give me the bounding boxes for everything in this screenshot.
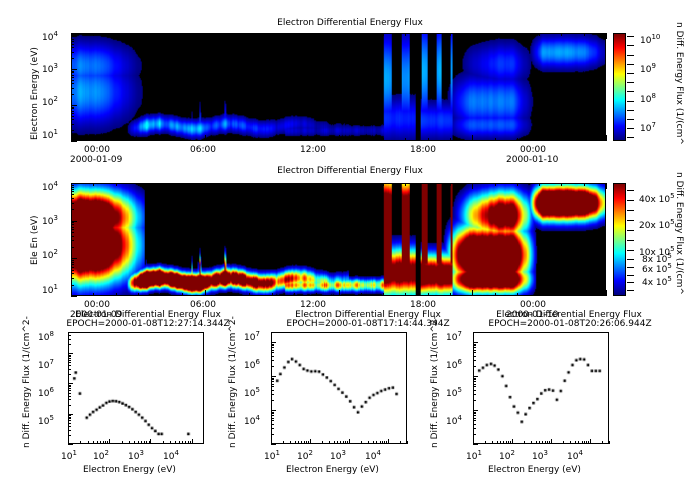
- mini-y-minor-tick: [68, 358, 71, 359]
- colorbar-tick: [627, 290, 634, 291]
- mini-y-minor-tick: [473, 350, 476, 351]
- mini-y-minor-tick: [473, 366, 476, 367]
- y-minor-tick: [71, 236, 74, 237]
- mini-y-minor-tick: [473, 379, 476, 380]
- panel-top-ytick-1: 101: [42, 128, 58, 141]
- panel-top-colorbar-label: n Diff. Energy Flux (1/(cm^: [674, 22, 684, 145]
- mini-x-minor-tick: [298, 441, 299, 444]
- mini-y-minor-tick: [271, 420, 274, 421]
- mini-y-minor-tick: [271, 352, 274, 353]
- panel-top-xtick-3: 18:00: [410, 145, 436, 155]
- y-minor-tick: [71, 47, 74, 48]
- mini-y-minor-tick: [271, 344, 274, 345]
- mini-y-minor-tick: [473, 386, 476, 387]
- x-minor-tick-top: [182, 33, 183, 36]
- x-minor-tick-top: [160, 183, 161, 186]
- mini-x-major-tick: [512, 439, 513, 444]
- panel-middle-cbtick-4: 6x 105: [642, 262, 672, 275]
- spectrum-1-xlabel: Electron Energy (eV): [83, 465, 176, 475]
- mini-x-minor-tick: [322, 441, 323, 444]
- panel-top-xdate-left: 2000-01-09: [70, 155, 122, 165]
- y-minor-tick: [71, 260, 74, 261]
- mini-y-minor-tick: [271, 394, 274, 395]
- x-minor-tick-top: [249, 33, 250, 36]
- panel-middle-ytick-2: 102: [42, 248, 58, 261]
- x-minor-tick-top: [272, 183, 273, 186]
- mini-x-minor-tick: [100, 441, 101, 444]
- mini-y-minor-tick: [68, 396, 71, 397]
- y-minor-tick: [71, 203, 74, 204]
- mini-y-major-tick: [271, 444, 276, 445]
- x-minor-tick: [182, 293, 183, 296]
- mini-x-minor-tick: [545, 441, 546, 444]
- mini-x-minor-tick: [182, 441, 183, 444]
- y-minor-tick: [71, 77, 74, 78]
- mini-x-minor-tick: [340, 441, 341, 444]
- mini-y-minor-tick: [473, 420, 476, 421]
- x-minor-tick-top: [405, 183, 406, 186]
- spectrum-2-xtick-0: 101: [264, 449, 280, 462]
- y-minor-tick: [71, 107, 74, 108]
- y-minor-tick: [71, 111, 74, 112]
- mini-x-minor-tick: [188, 441, 189, 444]
- x-minor-tick: [93, 138, 94, 141]
- panel-middle-xtick-3: 18:00: [410, 300, 436, 310]
- mini-y-minor-tick: [271, 424, 274, 425]
- spectrum-1-ylabel: n Diff. Energy Flux (1/(cm^2-: [22, 316, 32, 448]
- panel-middle-cbtick-0: 40x 105: [639, 192, 675, 205]
- mini-x-minor-tick: [506, 441, 507, 444]
- x-minor-tick: [138, 138, 139, 141]
- spectrum-3-xlabel: Electron Energy (eV): [488, 465, 581, 475]
- mini-y-minor-tick: [473, 434, 476, 435]
- y-minor-tick: [71, 247, 74, 248]
- x-minor-tick: [272, 138, 273, 141]
- panel-top-ytick-2: 102: [42, 95, 58, 108]
- y-minor-tick: [71, 80, 74, 81]
- mini-x-minor-tick: [138, 441, 139, 444]
- spectrum-1-ytick-1: 107: [38, 358, 54, 371]
- panel-top-spectrogram-canvas: [72, 34, 605, 140]
- x-minor-tick-top: [517, 183, 518, 186]
- x-minor-tick: [450, 293, 451, 296]
- colorbar-tick: [627, 64, 634, 65]
- panel-middle-xtick-4: 00:00: [520, 300, 546, 310]
- spectrum-3-scatter: [474, 333, 608, 443]
- mini-y-minor-tick: [68, 355, 71, 356]
- x-minor-tick-top: [272, 33, 273, 36]
- mini-y-minor-tick: [473, 381, 476, 382]
- mini-y-major-tick: [473, 342, 478, 343]
- spectrum-1-ytick-2: 106: [38, 386, 54, 399]
- colorbar-tick: [627, 267, 634, 268]
- mini-x-minor-tick: [539, 441, 540, 444]
- x-minor-tick: [294, 138, 295, 141]
- mini-x-minor-tick: [141, 441, 142, 444]
- mini-x-minor-tick: [295, 441, 296, 444]
- x-minor-tick: [428, 138, 429, 141]
- mini-x-minor-tick: [105, 441, 106, 444]
- colorbar-tick: [627, 220, 634, 221]
- y-minor-tick: [71, 75, 74, 76]
- mini-x-minor-tick: [602, 441, 603, 444]
- spectrum-3-xtick-3: 104: [567, 449, 583, 462]
- x-major-tick-top: [339, 183, 340, 189]
- spectrum-3-ytick-2: 105: [446, 386, 462, 399]
- x-minor-tick-top: [160, 33, 161, 36]
- spectrum-2-xtick-3: 104: [365, 449, 381, 462]
- x-major-tick: [472, 135, 473, 141]
- y-minor-tick: [71, 278, 74, 279]
- panel-middle-ylabel: Ele En (eV): [30, 215, 40, 265]
- x-major-tick-top: [71, 183, 72, 189]
- mini-y-minor-tick: [271, 347, 274, 348]
- mini-y-minor-tick: [271, 350, 274, 351]
- spectrum-2-ytick-1: 106: [244, 358, 260, 371]
- x-minor-tick: [316, 293, 317, 296]
- x-major-tick: [339, 290, 340, 296]
- mini-x-major-tick: [310, 439, 311, 444]
- mini-x-minor-tick: [190, 441, 191, 444]
- y-minor-tick: [71, 198, 74, 199]
- x-major-tick-top: [606, 183, 607, 189]
- x-minor-tick: [316, 138, 317, 141]
- x-minor-tick: [160, 293, 161, 296]
- mini-y-minor-tick: [68, 417, 71, 418]
- spectrum-1-xtick-0: 101: [61, 449, 77, 462]
- mini-x-minor-tick: [542, 441, 543, 444]
- mini-y-major-tick: [271, 376, 276, 377]
- mini-y-major-tick: [473, 444, 478, 445]
- spectrum-2-xlabel: Electron Energy (eV): [286, 465, 379, 475]
- x-minor-tick: [428, 293, 429, 296]
- spectrum-2-xtick-1: 102: [297, 449, 313, 462]
- y-minor-tick: [71, 52, 74, 53]
- x-major-tick: [205, 290, 206, 296]
- spectrum-1-ytick-0: 108: [38, 330, 54, 343]
- x-minor-tick-top: [495, 33, 496, 36]
- x-minor-tick: [561, 138, 562, 141]
- colorbar-tick: [627, 259, 634, 260]
- mini-y-minor-tick: [68, 423, 71, 424]
- x-minor-tick: [517, 138, 518, 141]
- spectrum-1-scatter: [69, 333, 203, 443]
- mini-y-minor-tick: [473, 345, 476, 346]
- mini-x-major-tick: [349, 439, 350, 444]
- x-minor-tick: [584, 138, 585, 141]
- mini-x-minor-tick: [361, 441, 362, 444]
- mini-y-minor-tick: [271, 418, 274, 419]
- panel-top-colorbar-gradient: [614, 34, 625, 140]
- mini-x-minor-tick: [503, 441, 504, 444]
- x-minor-tick: [495, 293, 496, 296]
- mini-x-minor-tick: [500, 441, 501, 444]
- mini-y-minor-tick: [68, 360, 71, 361]
- mini-x-minor-tick: [376, 441, 377, 444]
- panel-middle-xtick-0: 00:00: [84, 300, 110, 310]
- mini-x-minor-tick: [306, 441, 307, 444]
- x-minor-tick-top: [428, 33, 429, 36]
- panel-top-cbtick-2: 108: [640, 92, 656, 105]
- panel-top-xtick-4: 00:00: [520, 145, 546, 155]
- colorbar-tick: [627, 137, 634, 138]
- mini-x-minor-tick: [337, 441, 338, 444]
- spectrum-1-xtick-1: 102: [93, 449, 109, 462]
- mini-x-minor-tick: [175, 441, 176, 444]
- x-minor-tick-top: [428, 183, 429, 186]
- mini-y-minor-tick: [473, 344, 476, 345]
- mini-y-minor-tick: [68, 335, 71, 336]
- mini-x-minor-tick: [563, 441, 564, 444]
- x-minor-tick: [539, 293, 540, 296]
- mini-y-minor-tick: [271, 413, 274, 414]
- colorbar-tick: [627, 101, 634, 102]
- spectrum-3-ylabel: n Diff. Energy Flux (1/(cm^2-: [430, 316, 440, 448]
- mini-x-minor-tick: [536, 441, 537, 444]
- mini-x-minor-tick: [88, 441, 89, 444]
- panel-top-colorbar[interactable]: [613, 33, 626, 141]
- mini-y-minor-tick: [271, 434, 274, 435]
- mini-y-major-tick: [68, 414, 73, 415]
- mini-y-minor-tick: [68, 420, 71, 421]
- spectrum-3-ytick-3: 104: [446, 414, 462, 427]
- mini-y-minor-tick: [68, 393, 71, 394]
- y-minor-tick: [71, 270, 74, 271]
- x-minor-tick: [272, 293, 273, 296]
- mini-x-minor-tick: [380, 441, 381, 444]
- mini-x-major-tick: [192, 439, 193, 444]
- y-minor-tick: [71, 44, 74, 45]
- y-minor-tick: [71, 262, 74, 263]
- x-minor-tick-top: [227, 183, 228, 186]
- colorbar-tick: [627, 275, 634, 276]
- mini-y-minor-tick: [473, 428, 476, 429]
- mini-y-minor-tick: [271, 379, 274, 380]
- spectrum-1-plot-area[interactable]: [68, 332, 204, 444]
- panel-top-ytick-4: 104: [42, 30, 58, 43]
- x-minor-tick: [294, 293, 295, 296]
- panel-top-cbtick-3: 107: [640, 121, 656, 134]
- colorbar-tick: [627, 230, 634, 231]
- mini-y-minor-tick: [271, 366, 274, 367]
- panel-middle-colorbar[interactable]: [613, 183, 626, 296]
- mini-y-minor-tick: [271, 412, 274, 413]
- colorbar-tick: [627, 210, 634, 211]
- mini-x-minor-tick: [547, 441, 548, 444]
- spectrum-1-xtick-3: 104: [163, 449, 179, 462]
- panel-middle-cbtick-1: 20x 105: [639, 218, 675, 231]
- y-minor-tick: [71, 273, 74, 274]
- y-minor-tick: [71, 124, 74, 125]
- mini-y-minor-tick: [271, 400, 274, 401]
- colorbar-tick: [627, 119, 634, 120]
- colorbar-tick: [627, 200, 634, 201]
- x-major-tick: [606, 135, 607, 141]
- mini-x-minor-tick: [149, 441, 150, 444]
- mini-x-major-tick: [109, 439, 110, 444]
- x-minor-tick-top: [383, 183, 384, 186]
- x-major-tick-top: [71, 33, 72, 39]
- mini-y-major-tick: [271, 410, 276, 411]
- x-minor-tick-top: [517, 33, 518, 36]
- x-minor-tick-top: [93, 33, 94, 36]
- mini-y-minor-tick: [473, 413, 476, 414]
- x-minor-tick: [405, 293, 406, 296]
- mini-x-minor-tick: [497, 441, 498, 444]
- spectrum-3-xtick-0: 101: [466, 449, 482, 462]
- mini-y-minor-tick: [473, 412, 476, 413]
- colorbar-tick: [627, 45, 634, 46]
- spectrum-2-ytick-2: 105: [244, 386, 260, 399]
- y-minor-tick: [71, 119, 74, 120]
- panel-top-ylabel: Electron Energy (eV): [30, 47, 40, 140]
- mini-y-major-tick: [473, 376, 478, 377]
- y-major-tick: [71, 258, 77, 259]
- mini-y-minor-tick: [473, 356, 476, 357]
- mini-y-major-tick: [271, 342, 276, 343]
- panel-middle-ytick-3: 103: [42, 214, 58, 227]
- mini-x-major-tick: [551, 439, 552, 444]
- mini-x-minor-tick: [578, 441, 579, 444]
- spectrum-2-xtick-2: 103: [330, 449, 346, 462]
- mini-y-minor-tick: [68, 356, 71, 357]
- spectrum-1-ytick-3: 105: [38, 414, 54, 427]
- mini-y-minor-tick: [68, 374, 71, 375]
- x-major-tick: [71, 290, 72, 296]
- x-major-tick-top: [205, 183, 206, 189]
- mini-y-minor-tick: [271, 428, 274, 429]
- mini-x-minor-tick: [382, 441, 383, 444]
- mini-y-minor-tick: [473, 400, 476, 401]
- mini-x-minor-tick: [146, 441, 147, 444]
- spectrum-2-plot-area[interactable]: [271, 332, 407, 444]
- x-minor-tick-top: [116, 183, 117, 186]
- mini-x-minor-tick: [492, 441, 493, 444]
- mini-x-minor-tick: [179, 441, 180, 444]
- x-minor-tick-top: [93, 183, 94, 186]
- x-major-tick: [205, 135, 206, 141]
- spectrum-3-ytick-1: 106: [446, 358, 462, 371]
- spectrum-3-xtick-2: 103: [532, 449, 548, 462]
- x-minor-tick: [450, 138, 451, 141]
- y-minor-tick: [71, 108, 74, 109]
- y-minor-tick: [71, 240, 74, 241]
- mini-y-minor-tick: [68, 415, 71, 416]
- x-minor-tick-top: [495, 183, 496, 186]
- mini-y-minor-tick: [68, 344, 71, 345]
- y-minor-tick: [71, 232, 74, 233]
- panel-middle-ytick-1: 101: [42, 283, 58, 296]
- y-minor-tick: [71, 285, 74, 286]
- x-minor-tick: [584, 293, 585, 296]
- mini-y-major-tick: [68, 353, 73, 354]
- x-minor-tick-top: [316, 183, 317, 186]
- mini-x-minor-tick: [129, 441, 130, 444]
- spectrum-3-plot-area[interactable]: [473, 332, 609, 444]
- mini-x-major-tick: [388, 439, 389, 444]
- x-minor-tick-top: [361, 33, 362, 36]
- mini-y-minor-tick: [271, 384, 274, 385]
- panel-middle-xtick-1: 06:00: [190, 300, 216, 310]
- spectrum-2-ylabel: n Diff. Energy Flux (1/(cm^2-: [228, 316, 238, 448]
- mini-x-major-tick: [150, 439, 151, 444]
- panel-top-ytick-3: 103: [42, 62, 58, 75]
- mini-x-minor-tick: [524, 441, 525, 444]
- x-minor-tick: [249, 293, 250, 296]
- x-major-tick-top: [472, 33, 473, 39]
- y-minor-tick: [71, 83, 74, 84]
- mini-y-minor-tick: [473, 347, 476, 348]
- mini-y-minor-tick: [68, 365, 71, 366]
- colorbar-tick: [627, 55, 634, 56]
- mini-x-minor-tick: [170, 441, 171, 444]
- panel-middle-xtick-2: 12:00: [300, 300, 326, 310]
- mini-x-minor-tick: [609, 441, 610, 444]
- mini-x-minor-tick: [584, 441, 585, 444]
- mini-x-minor-tick: [582, 441, 583, 444]
- x-major-tick: [606, 290, 607, 296]
- mini-y-minor-tick: [68, 369, 71, 370]
- x-minor-tick: [383, 138, 384, 141]
- panel-top-plot-area[interactable]: [71, 33, 606, 141]
- y-minor-tick: [71, 130, 74, 131]
- mini-y-minor-tick: [473, 418, 476, 419]
- x-minor-tick-top: [138, 183, 139, 186]
- x-minor-tick-top: [405, 33, 406, 36]
- x-minor-tick-top: [294, 183, 295, 186]
- mini-y-major-tick: [68, 383, 73, 384]
- x-minor-tick-top: [450, 33, 451, 36]
- x-minor-tick: [116, 293, 117, 296]
- panel-middle-title: Electron Differential Energy Flux: [180, 166, 520, 176]
- panel-top-cbtick-1: 109: [640, 62, 656, 75]
- y-minor-tick: [71, 94, 74, 95]
- spectrum-2-scatter: [272, 333, 406, 443]
- mini-x-minor-tick: [485, 441, 486, 444]
- y-major-tick: [71, 296, 77, 297]
- y-minor-tick: [71, 194, 74, 195]
- mini-y-minor-tick: [473, 384, 476, 385]
- mini-y-minor-tick: [271, 381, 274, 382]
- mini-x-minor-tick: [304, 441, 305, 444]
- x-minor-tick: [116, 138, 117, 141]
- mini-x-minor-tick: [144, 441, 145, 444]
- y-minor-tick: [71, 72, 74, 73]
- mini-y-minor-tick: [271, 345, 274, 346]
- mini-y-minor-tick: [473, 394, 476, 395]
- y-major-tick: [71, 105, 77, 106]
- x-minor-tick-top: [294, 33, 295, 36]
- spectrum-3-ytick-0: 107: [446, 330, 462, 343]
- y-major-tick: [71, 141, 77, 142]
- colorbar-tick: [627, 36, 634, 37]
- mini-y-major-tick: [68, 444, 73, 445]
- mini-y-minor-tick: [271, 360, 274, 361]
- spectrum-3-subtitle: EPOCH=2000-01-08T20:26:06.944Z: [450, 319, 690, 329]
- x-minor-tick: [405, 138, 406, 141]
- mini-y-minor-tick: [271, 378, 274, 379]
- y-minor-tick: [71, 227, 74, 228]
- x-minor-tick: [227, 293, 228, 296]
- x-major-tick-top: [472, 183, 473, 189]
- x-minor-tick: [249, 138, 250, 141]
- y-minor-tick: [71, 71, 74, 72]
- x-minor-tick-top: [249, 183, 250, 186]
- x-minor-tick-top: [539, 183, 540, 186]
- x-minor-tick-top: [361, 183, 362, 186]
- panel-middle-plot-area[interactable]: [71, 183, 606, 296]
- y-major-tick: [71, 221, 77, 222]
